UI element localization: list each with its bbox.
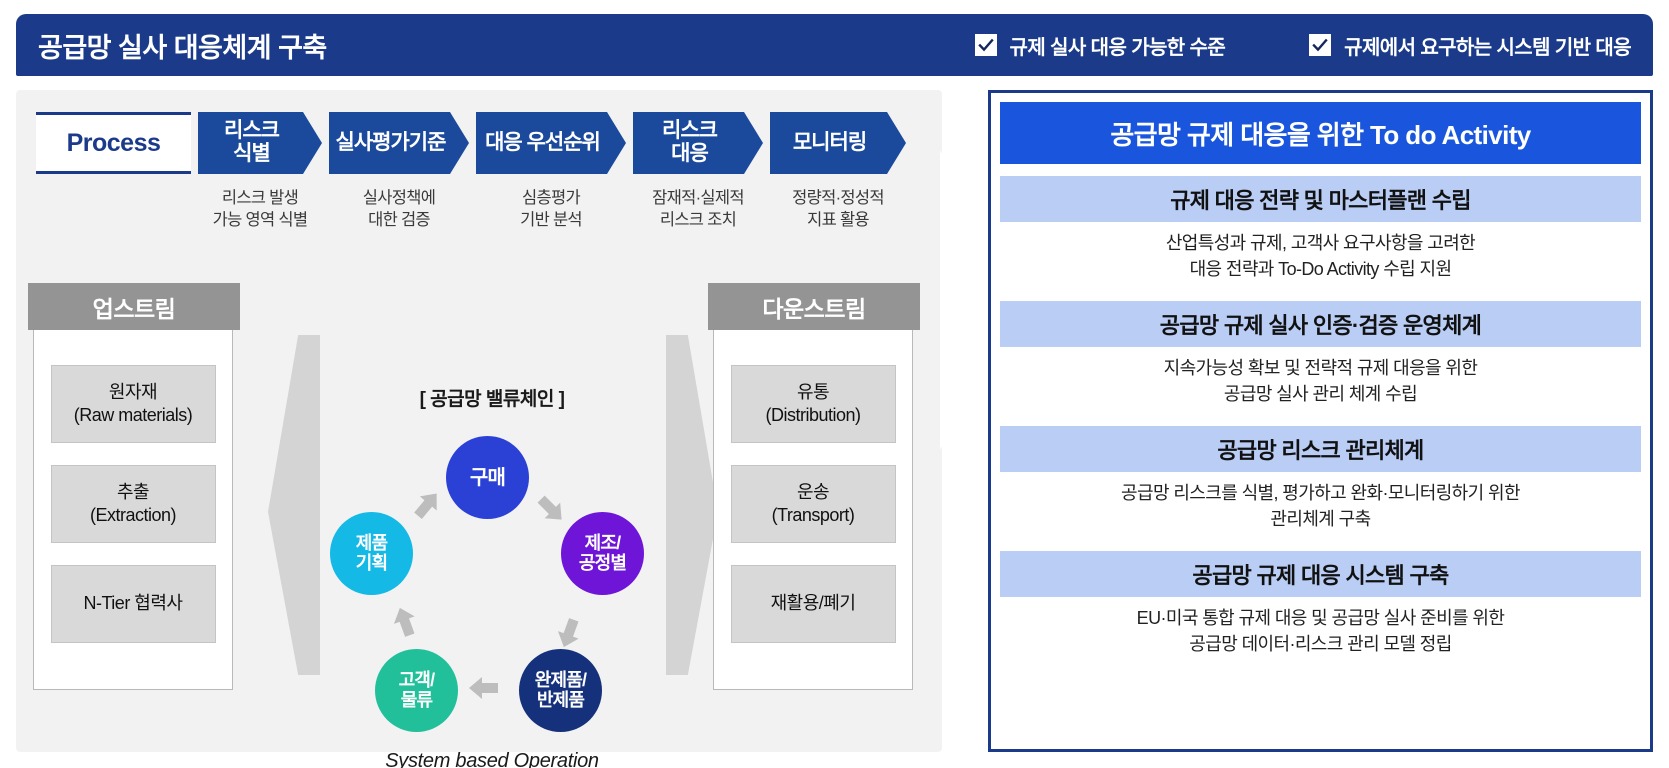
todo-section-4-heading-label: 공급망 규제 대응 시스템 구축 [1192, 558, 1448, 590]
slide-root: 공급망 실사 대응체계 구축 규제 실사 대응 가능한 수준 규제에서 요구하는… [0, 0, 1669, 768]
process-step-5-caption-l1: 정량적·정성적 [792, 189, 884, 207]
node-manufacturing-l2: 공정별 [579, 553, 626, 573]
upstream-item-2-line1: 추출 [117, 481, 149, 504]
downstream-item-1[interactable]: 유통 (Distribution) [731, 365, 896, 443]
process-step-1-chevron: 리스크 식별 [198, 112, 322, 174]
value-chain-diagram: 구매 제조/ 공정별 완제품/ 반제품 고객/ 물류 제품 기획 [312, 420, 672, 750]
header-check-group: 규제 실사 대응 가능한 수준 규제에서 요구하는 시스템 기반 대응 [975, 14, 1631, 76]
value-chain-node-customer-logistics[interactable]: 고객/ 물류 [375, 649, 458, 732]
header-check-label-2: 규제에서 요구하는 시스템 기반 대응 [1344, 31, 1631, 60]
todo-section-2-body-l2: 공급망 실사 관리 체계 수립 [1224, 384, 1417, 404]
todo-section-4-body-l2: 공급망 데이터·리스크 관리 모델 정립 [1189, 634, 1451, 654]
downstream-heading: 다운스트림 [708, 283, 920, 330]
process-step-1-caption-l1: 리스크 발생 [222, 189, 298, 207]
upstream-item-1-line1: 원자재 [109, 381, 157, 404]
header-check-item-2[interactable]: 규제에서 요구하는 시스템 기반 대응 [1309, 31, 1631, 60]
process-step-3-title: 대응 우선순위 [485, 132, 600, 155]
process-flow: Process 리스크 식별 리스크 발생 가능 영역 식별 실사평가기준 실사… [36, 112, 906, 232]
downstream-item-3[interactable]: 재활용/폐기 [731, 565, 896, 643]
node-customer-logistics-l2: 물류 [401, 690, 433, 710]
downstream-flow-arrow-icon [666, 335, 718, 675]
process-step-1-caption-l2: 가능 영역 식별 [213, 211, 308, 229]
downstream-column: 다운스트림 유통 (Distribution) 운송 (Transport) 재… [713, 310, 913, 690]
process-step-5[interactable]: 모니터링 정량적·정성적 지표 활용 [770, 112, 906, 232]
slide-header: 공급망 실사 대응체계 구축 규제 실사 대응 가능한 수준 규제에서 요구하는… [16, 14, 1653, 76]
process-step-5-caption: 정량적·정성적 지표 활용 [792, 187, 884, 232]
todo-section-3-body-l2: 관리체계 구축 [1270, 509, 1370, 529]
process-step-1[interactable]: 리스크 식별 리스크 발생 가능 영역 식별 [198, 112, 322, 232]
process-step-3-caption-l1: 심층평가 [522, 189, 580, 207]
todo-section-4-body-l1: EU·미국 통합 규제 대응 및 공급망 실사 준비를 위한 [1137, 608, 1505, 628]
process-step-5-title: 모니터링 [793, 132, 866, 155]
cycle-arrow-icon-2 [547, 611, 591, 655]
value-chain-footer: System based Operation [312, 750, 672, 768]
value-chain-title: [ 공급망 밸류체인 ] [312, 384, 672, 411]
process-step-2-title: 실사평가기준 [336, 132, 446, 155]
todo-section-3-heading-label: 공급망 리스크 관리체계 [1217, 433, 1423, 465]
value-chain-node-finished-goods[interactable]: 완제품/ 반제품 [519, 649, 602, 732]
todo-section-2-body-l1: 지속가능성 확보 및 전략적 규제 대응을 위한 [1164, 358, 1478, 378]
node-customer-logistics-l1: 고객/ [399, 670, 435, 690]
upstream-column: 업스트림 원자재 (Raw materials) 추출 (Extraction)… [33, 310, 233, 690]
process-step-1-caption: 리스크 발생 가능 영역 식별 [213, 187, 308, 232]
process-step-2-chevron: 실사평가기준 [329, 112, 469, 174]
upstream-heading: 업스트림 [28, 283, 240, 330]
process-step-3-caption: 심층평가 기반 분석 [520, 187, 582, 232]
downstream-item-2[interactable]: 운송 (Transport) [731, 465, 896, 543]
node-manufacturing-l1: 제조/ [585, 533, 621, 553]
todo-section-4-heading: 공급망 규제 대응 시스템 구축 [1000, 551, 1641, 597]
todo-section-2-body: 지속가능성 확보 및 전략적 규제 대응을 위한 공급망 실사 관리 체계 수립 [1000, 347, 1641, 414]
process-step-4-chevron: 리스크 대응 [633, 112, 763, 174]
header-check-label-1: 규제 실사 대응 가능한 수준 [1010, 31, 1226, 60]
todo-section-1-heading: 규제 대응 전략 및 마스터플랜 수립 [1000, 176, 1641, 222]
value-chain-node-product-planning[interactable]: 제품 기획 [330, 512, 413, 595]
todo-section-1-body-l1: 산업특성과 규제, 고객사 요구사항을 고려한 [1166, 233, 1475, 253]
downstream-item-1-line2: (Distribution) [765, 404, 860, 427]
process-step-1-title-l2: 식별 [233, 142, 270, 165]
value-chain-node-purchase[interactable]: 구매 [446, 436, 529, 519]
cycle-arrow-icon-4 [383, 600, 427, 644]
todo-section-3-heading: 공급망 리스크 관리체계 [1000, 426, 1641, 472]
node-purchase-label: 구매 [470, 467, 505, 489]
process-step-5-chevron: 모니터링 [770, 112, 906, 174]
downstream-item-3-line1: 재활용/폐기 [771, 592, 856, 615]
todo-section-3-body: 공급망 리스크를 식별, 평가하고 완화·모니터링하기 위한 관리체계 구축 [1000, 472, 1641, 539]
value-chain-node-manufacturing[interactable]: 제조/ 공정별 [561, 512, 644, 595]
node-finished-goods-l2: 반제품 [537, 690, 584, 710]
process-step-2-caption-l1: 실사정책에 [363, 189, 435, 207]
page-title: 공급망 실사 대응체계 구축 [38, 26, 327, 65]
todo-panel-header: 공급망 규제 대응을 위한 To do Activity [1000, 102, 1641, 164]
cycle-arrow-icon-1 [527, 485, 575, 533]
todo-activity-panel: 공급망 규제 대응을 위한 To do Activity 규제 대응 전략 및 … [988, 90, 1653, 752]
todo-section-1-body: 산업특성과 규제, 고객사 요구사항을 고려한 대응 전략과 To-Do Act… [1000, 222, 1641, 289]
process-step-4-caption: 잠재적·실제적 리스크 조치 [652, 187, 744, 232]
process-step-4-title-l2: 대응 [671, 142, 708, 165]
upstream-item-2[interactable]: 추출 (Extraction) [51, 465, 216, 543]
checkmark-icon [975, 34, 997, 56]
downstream-items: 유통 (Distribution) 운송 (Transport) 재활용/폐기 [714, 349, 912, 689]
todo-section-4-body: EU·미국 통합 규제 대응 및 공급망 실사 준비를 위한 공급망 데이터·리… [1000, 597, 1641, 664]
upstream-item-1[interactable]: 원자재 (Raw materials) [51, 365, 216, 443]
upstream-item-1-line2: (Raw materials) [74, 404, 193, 427]
upstream-item-2-line2: (Extraction) [90, 504, 176, 527]
downstream-item-1-line1: 유통 [797, 381, 829, 404]
downstream-item-2-line2: (Transport) [772, 504, 855, 527]
node-product-planning-l2: 기획 [356, 553, 388, 573]
checkmark-icon [1309, 34, 1331, 56]
cycle-arrow-icon-3 [467, 671, 501, 705]
todo-section-2-heading-label: 공급망 규제 실사 인증·검증 운영체계 [1160, 308, 1481, 340]
todo-section-2[interactable]: 공급망 규제 실사 인증·검증 운영체계 지속가능성 확보 및 전략적 규제 대… [1000, 301, 1641, 414]
process-step-2-caption-l2: 대한 검증 [368, 211, 430, 229]
node-finished-goods-l1: 완제품/ [535, 670, 586, 690]
supply-chain-panel: Process 리스크 식별 리스크 발생 가능 영역 식별 실사평가기준 실사… [16, 90, 942, 752]
todo-section-1-heading-label: 규제 대응 전략 및 마스터플랜 수립 [1170, 183, 1471, 215]
header-check-item-1[interactable]: 규제 실사 대응 가능한 수준 [975, 31, 1226, 60]
upstream-item-3[interactable]: N-Tier 협력사 [51, 565, 216, 643]
process-step-1-title-l1: 리스크 [224, 119, 279, 142]
upstream-items: 원자재 (Raw materials) 추출 (Extraction) N-Ti… [34, 349, 232, 689]
todo-section-4[interactable]: 공급망 규제 대응 시스템 구축 EU·미국 통합 규제 대응 및 공급망 실사… [1000, 551, 1641, 664]
process-step-5-caption-l2: 지표 활용 [807, 211, 869, 229]
todo-section-3-body-l1: 공급망 리스크를 식별, 평가하고 완화·모니터링하기 위한 [1121, 483, 1520, 503]
todo-section-1[interactable]: 규제 대응 전략 및 마스터플랜 수립 산업특성과 규제, 고객사 요구사항을 … [1000, 176, 1641, 289]
process-step-3[interactable]: 대응 우선순위 심층평가 기반 분석 [476, 112, 626, 232]
todo-section-2-heading: 공급망 규제 실사 인증·검증 운영체계 [1000, 301, 1641, 347]
process-step-4-title-l1: 리스크 [662, 119, 717, 142]
cycle-arrow-icon-5 [403, 481, 451, 529]
process-label: Process [67, 129, 161, 158]
process-step-4[interactable]: 리스크 대응 잠재적·실제적 리스크 조치 [633, 112, 763, 232]
process-step-2[interactable]: 실사평가기준 실사정책에 대한 검증 [329, 112, 469, 232]
process-step-3-caption-l2: 기반 분석 [520, 211, 582, 229]
process-step-3-chevron: 대응 우선순위 [476, 112, 626, 174]
process-label-box: Process [36, 112, 191, 174]
upstream-item-3-line1: N-Tier 협력사 [83, 592, 182, 615]
process-step-2-caption: 실사정책에 대한 검증 [363, 187, 435, 232]
process-step-4-caption-l1: 잠재적·실제적 [652, 189, 744, 207]
todo-panel-header-label: 공급망 규제 대응을 위한 To do Activity [1110, 115, 1530, 152]
downstream-item-2-line1: 운송 [797, 481, 829, 504]
todo-section-3[interactable]: 공급망 리스크 관리체계 공급망 리스크를 식별, 평가하고 완화·모니터링하기… [1000, 426, 1641, 539]
process-step-4-caption-l2: 리스크 조치 [660, 211, 736, 229]
node-product-planning-l1: 제품 [356, 533, 388, 553]
todo-section-1-body-l2: 대응 전략과 To-Do Activity 수립 지원 [1190, 259, 1452, 279]
